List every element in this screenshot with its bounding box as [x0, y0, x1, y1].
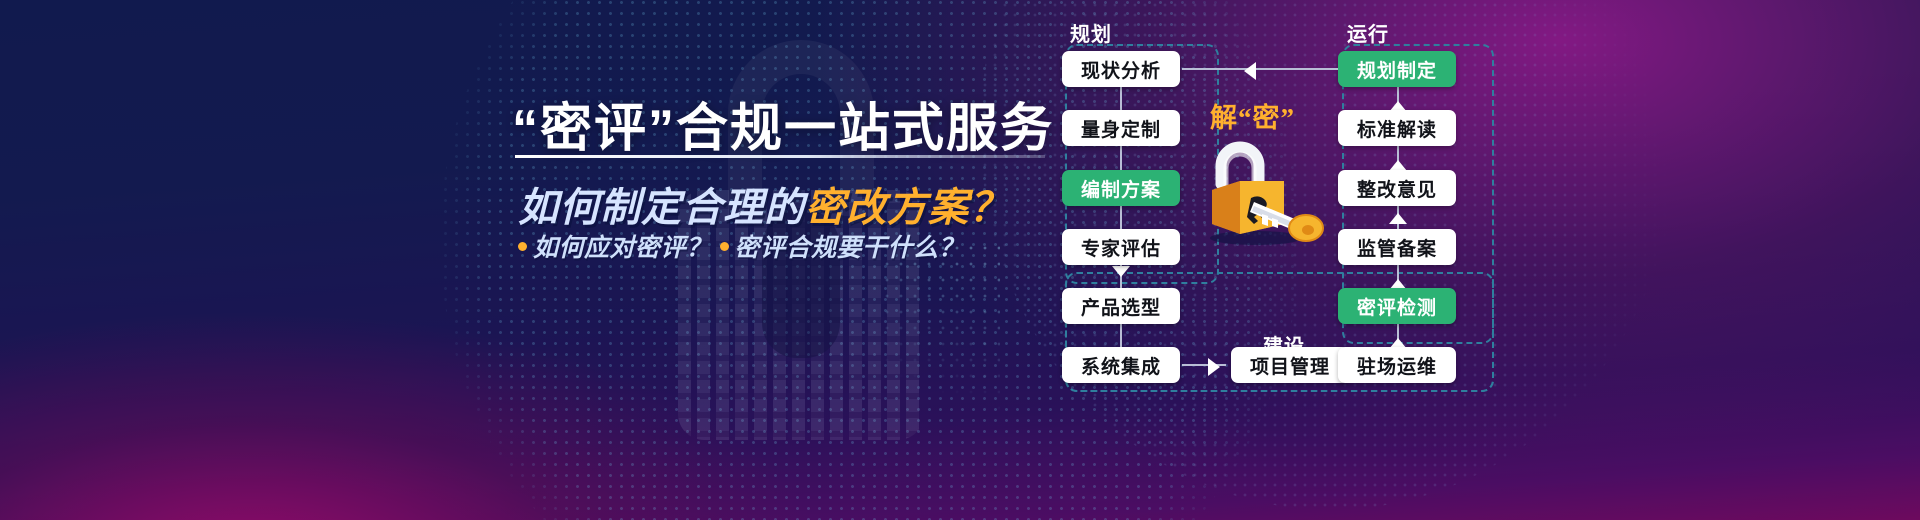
bullet-item-2: 密评合规要干什么？ — [735, 234, 965, 262]
node-tailored-customization[interactable]: 量身定制 — [1062, 110, 1180, 146]
arrow-right-icon — [1208, 358, 1220, 376]
headline-block: “密评”合规一站式服务 如何制定合理的密改方案？ 如何应对密评？密评合规要干什么… — [0, 0, 1060, 520]
node-standard-interpretation[interactable]: 标准解读 — [1338, 110, 1456, 146]
page-title: “密评”合规一站式服务 — [512, 86, 1054, 161]
node-project-management[interactable]: 项目管理 — [1231, 347, 1349, 383]
connector-line-cross-top — [1182, 68, 1338, 70]
node-onsite-operation[interactable]: 驻场运维 — [1338, 347, 1456, 383]
bullet-dot-icon — [720, 242, 729, 251]
process-flow-diagram: 规划 运行 建设 现状分析 量身定制 编制方案 专家评估 产品选型 系统集成 项… — [1058, 0, 1920, 520]
node-rectification-opinion[interactable]: 整改意见 — [1338, 170, 1456, 206]
group-label-planning: 规划 — [1070, 18, 1112, 47]
node-system-integration[interactable]: 系统集成 — [1062, 347, 1180, 383]
arrow-up-icon — [1389, 213, 1407, 224]
arrow-left-icon — [1244, 62, 1256, 80]
subtitle-prefix: 如何制定合理的 — [518, 186, 805, 230]
node-product-selection[interactable]: 产品选型 — [1062, 288, 1180, 324]
group-label-operation: 运行 — [1347, 18, 1389, 47]
arrow-down-icon — [1112, 266, 1130, 277]
decrypt-label: 解“密” — [1210, 96, 1295, 135]
subtitle: 如何制定合理的密改方案？ — [518, 175, 1010, 233]
subtitle-highlight: 密改方案 — [805, 186, 969, 230]
subtitle-question-mark: ？ — [969, 186, 1010, 230]
node-plan-compilation[interactable]: 编制方案 — [1062, 170, 1180, 206]
bullet-dot-icon — [518, 242, 527, 251]
node-regulatory-filing[interactable]: 监管备案 — [1338, 229, 1456, 265]
node-plan-formulation[interactable]: 规划制定 — [1338, 51, 1456, 87]
node-current-state-analysis[interactable]: 现状分析 — [1062, 51, 1180, 87]
title-divider — [515, 155, 1045, 158]
node-crypto-evaluation-test[interactable]: 密评检测 — [1338, 288, 1456, 324]
node-expert-evaluation[interactable]: 专家评估 — [1062, 229, 1180, 265]
lock-and-key-icon — [1198, 140, 1328, 250]
bullet-item-1: 如何应对密评？ — [533, 234, 712, 262]
bullet-list: 如何应对密评？密评合规要干什么？ — [518, 228, 964, 264]
lock-key-svg — [1198, 140, 1328, 250]
